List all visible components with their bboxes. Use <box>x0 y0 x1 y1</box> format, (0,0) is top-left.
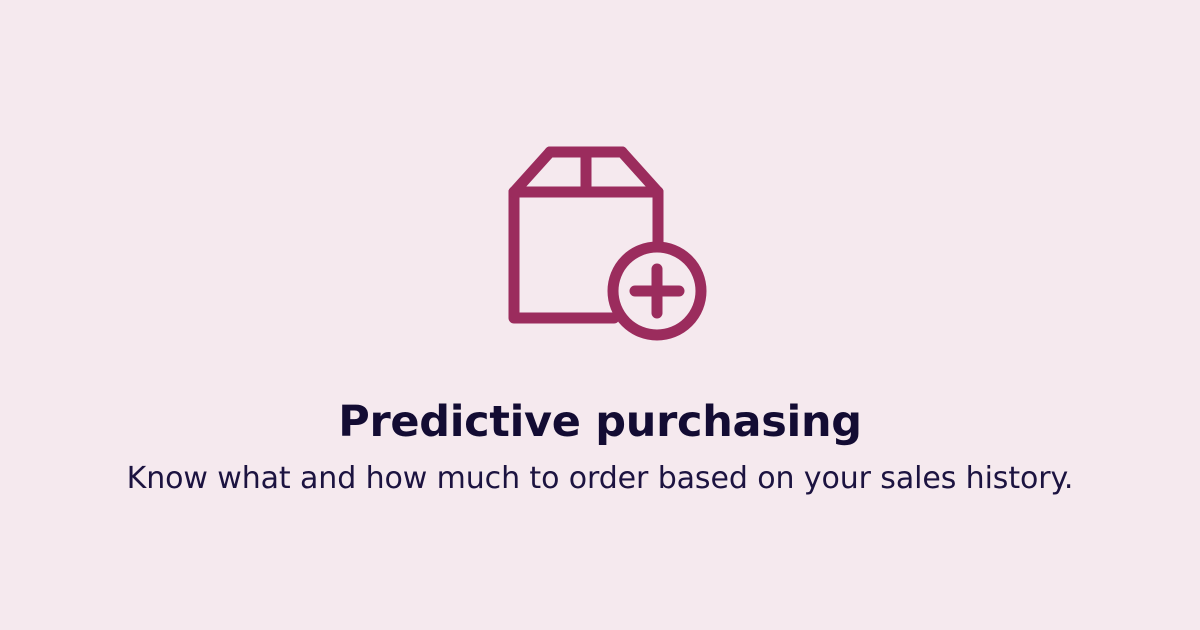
box-flap-right-diagonal <box>622 152 658 192</box>
feature-card: Predictive purchasing Know what and how … <box>0 0 1200 630</box>
page-title: Predictive purchasing <box>0 396 1200 448</box>
box-flap-left-diagonal <box>514 152 550 192</box>
box-left-and-bottom <box>514 192 614 318</box>
package-add-icon <box>492 130 708 346</box>
page-subtitle: Know what and how much to order based on… <box>0 459 1200 499</box>
